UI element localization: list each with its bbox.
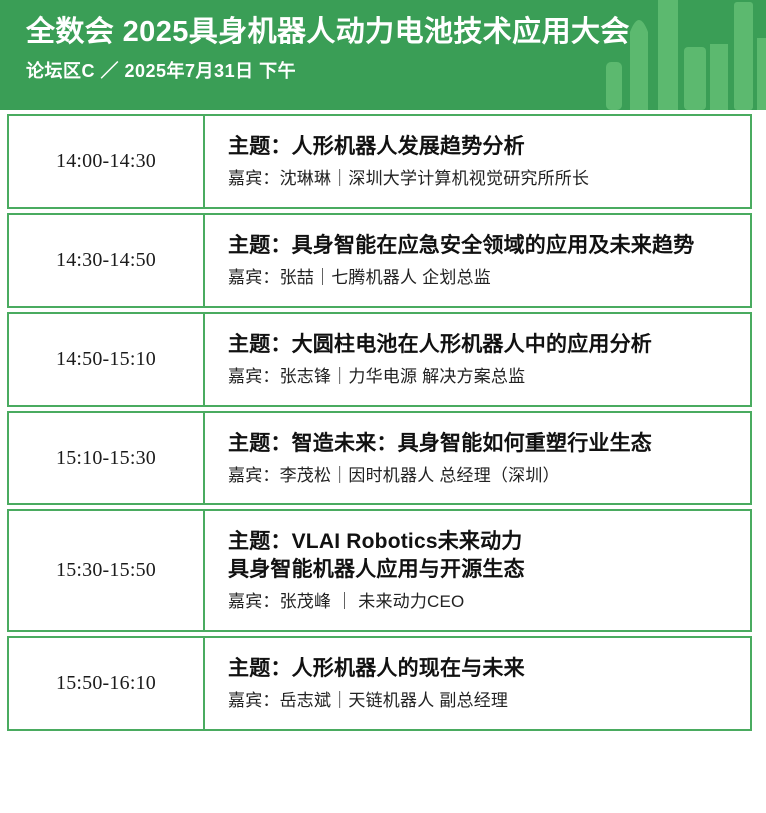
session-detail: 主题：人形机器人的现在与未来 嘉宾：岳志斌｜天链机器人 副总经理 <box>205 638 750 729</box>
session-detail: 主题：大圆柱电池在人形机器人中的应用分析 嘉宾：张志锋｜力华电源 解决方案总监 <box>205 314 750 405</box>
session-topic-line: 主题：智造未来：具身智能如何重塑行业生态 <box>228 430 740 458</box>
page-title: 全数会 2025具身机器人动力电池技术应用大会 <box>26 16 766 48</box>
session-topic: 主题：具身智能在应急安全领域的应用及未来趋势 <box>228 232 740 260</box>
session-time: 15:50-16:10 <box>9 638 205 729</box>
table-row: 15:30-15:50 主题：VLAI Robotics未来动力 具身智能机器人… <box>7 509 752 632</box>
session-topic-line: 主题：大圆柱电池在人形机器人中的应用分析 <box>228 331 740 359</box>
session-guest: 嘉宾：岳志斌｜天链机器人 副总经理 <box>228 690 740 713</box>
session-topic: 主题：人形机器人发展趋势分析 <box>228 133 740 161</box>
session-detail: 主题：VLAI Robotics未来动力 具身智能机器人应用与开源生态 嘉宾：张… <box>205 511 750 630</box>
table-row: 14:50-15:10 主题：大圆柱电池在人形机器人中的应用分析 嘉宾：张志锋｜… <box>7 312 752 407</box>
session-topic: 主题：智造未来：具身智能如何重塑行业生态 <box>228 430 740 458</box>
session-topic-line: 主题：人形机器人发展趋势分析 <box>228 133 740 161</box>
session-topic-line: 主题：具身智能在应急安全领域的应用及未来趋势 <box>228 232 740 260</box>
agenda-table: 14:00-14:30 主题：人形机器人发展趋势分析 嘉宾：沈琳琳｜深圳大学计算… <box>7 114 752 731</box>
session-topic-line: 主题：人形机器人的现在与未来 <box>228 655 740 683</box>
session-time: 15:10-15:30 <box>9 413 205 504</box>
session-time: 15:30-15:50 <box>9 511 205 630</box>
session-topic: 主题：人形机器人的现在与未来 <box>228 655 740 683</box>
session-guest: 嘉宾：张志锋｜力华电源 解决方案总监 <box>228 366 740 389</box>
session-topic: 主题：VLAI Robotics未来动力 具身智能机器人应用与开源生态 <box>228 528 740 584</box>
header-banner: 全数会 2025具身机器人动力电池技术应用大会 论坛区C ／ 2025年7月31… <box>0 0 766 110</box>
table-row: 15:10-15:30 主题：智造未来：具身智能如何重塑行业生态 嘉宾：李茂松｜… <box>7 411 752 506</box>
table-row: 14:30-14:50 主题：具身智能在应急安全领域的应用及未来趋势 嘉宾：张喆… <box>7 213 752 308</box>
session-time: 14:50-15:10 <box>9 314 205 405</box>
session-detail: 主题：具身智能在应急安全领域的应用及未来趋势 嘉宾：张喆｜七腾机器人 企划总监 <box>205 215 750 306</box>
session-guest: 嘉宾：张茂峰 ｜ 未来动力CEO <box>228 591 740 614</box>
table-row: 14:00-14:30 主题：人形机器人发展趋势分析 嘉宾：沈琳琳｜深圳大学计算… <box>7 114 752 209</box>
session-time: 14:00-14:30 <box>9 116 205 207</box>
table-row: 15:50-16:10 主题：人形机器人的现在与未来 嘉宾：岳志斌｜天链机器人 … <box>7 636 752 731</box>
session-topic-line: 具身智能机器人应用与开源生态 <box>228 556 740 584</box>
session-guest: 嘉宾：张喆｜七腾机器人 企划总监 <box>228 267 740 290</box>
agenda-poster: 全数会 2025具身机器人动力电池技术应用大会 论坛区C ／ 2025年7月31… <box>0 0 766 813</box>
session-topic: 主题：大圆柱电池在人形机器人中的应用分析 <box>228 331 740 359</box>
session-guest: 嘉宾：沈琳琳｜深圳大学计算机视觉研究所所长 <box>228 168 740 191</box>
session-guest: 嘉宾：李茂松｜因时机器人 总经理（深圳） <box>228 465 740 488</box>
session-topic-line: 主题：VLAI Robotics未来动力 <box>228 528 740 556</box>
session-time: 14:30-14:50 <box>9 215 205 306</box>
session-detail: 主题：人形机器人发展趋势分析 嘉宾：沈琳琳｜深圳大学计算机视觉研究所所长 <box>205 116 750 207</box>
page-subtitle: 论坛区C ／ 2025年7月31日 下午 <box>26 57 766 83</box>
session-detail: 主题：智造未来：具身智能如何重塑行业生态 嘉宾：李茂松｜因时机器人 总经理（深圳… <box>205 413 750 504</box>
header-text-block: 全数会 2025具身机器人动力电池技术应用大会 论坛区C ／ 2025年7月31… <box>0 0 766 83</box>
